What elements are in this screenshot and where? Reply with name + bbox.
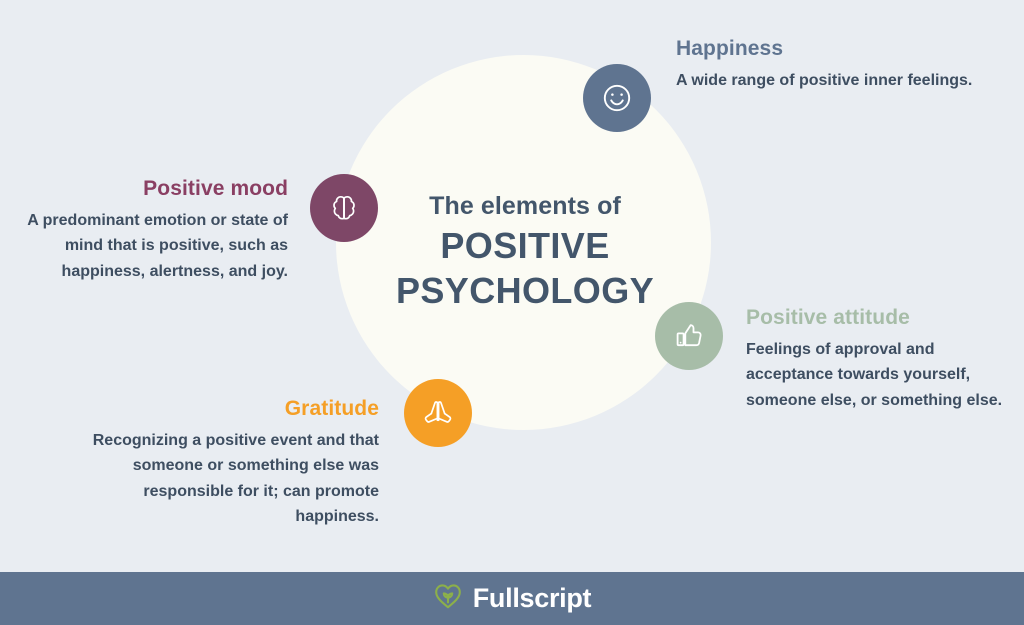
center-eyebrow-text: The elements of [355, 190, 695, 222]
smiley-face-icon [599, 80, 635, 116]
brain-icon [327, 191, 361, 225]
footer-bar: Fullscript [0, 572, 1024, 625]
happiness-body: A wide range of positive inner feelings. [676, 68, 976, 93]
positive-attitude-text-block: Positive attitude Feelings of approval a… [746, 305, 1008, 413]
positive-mood-heading: Positive mood [20, 176, 288, 201]
center-title-group: The elements of POSITIVE PSYCHOLOGY [355, 190, 695, 312]
thumbs-up-icon [672, 319, 706, 353]
positive-attitude-icon-badge [655, 302, 723, 370]
gratitude-heading: Gratitude [74, 396, 379, 421]
happiness-text-block: Happiness A wide range of positive inner… [676, 36, 976, 93]
happiness-icon-badge [583, 64, 651, 132]
positive-mood-body: A predominant emotion or state of mind t… [20, 208, 288, 284]
positive-mood-text-block: Positive mood A predominant emotion or s… [20, 176, 288, 284]
fullscript-wordmark: Fullscript [473, 585, 592, 612]
positive-mood-icon-badge [310, 174, 378, 242]
happiness-heading: Happiness [676, 36, 976, 61]
gratitude-body: Recognizing a positive event and that so… [74, 428, 379, 529]
center-title-line-2: PSYCHOLOGY [355, 270, 695, 312]
praying-hands-icon [420, 395, 456, 431]
center-title-line-1: POSITIVE [355, 225, 695, 267]
fullscript-heart-leaf-logo-icon [433, 582, 463, 615]
fullscript-brand: Fullscript [433, 582, 592, 615]
gratitude-text-block: Gratitude Recognizing a positive event a… [74, 396, 379, 529]
infographic-canvas: The elements of POSITIVE PSYCHOLOGY Happ… [0, 0, 1024, 625]
gratitude-icon-badge [404, 379, 472, 447]
positive-attitude-heading: Positive attitude [746, 305, 1008, 330]
positive-attitude-body: Feelings of approval and acceptance towa… [746, 337, 1008, 413]
